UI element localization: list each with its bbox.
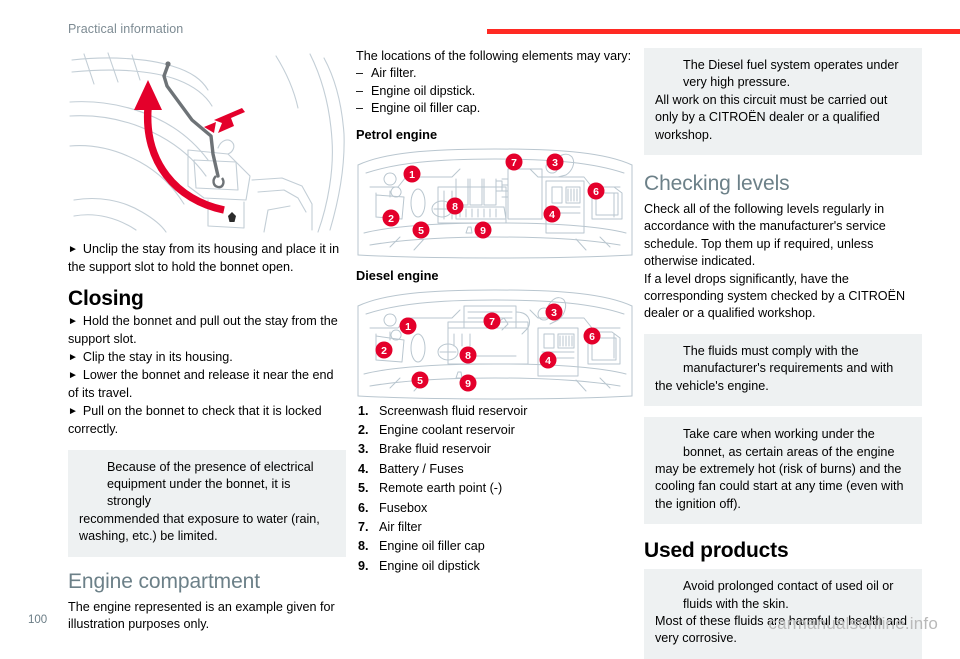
watermark: carmanualsonline.info: [768, 614, 938, 634]
svg-text:9: 9: [465, 378, 471, 390]
legend-index: 2.: [358, 421, 369, 440]
legend-index: 1.: [358, 402, 369, 421]
dash-bullet-icon: –: [356, 65, 363, 82]
warning-body-text: the vehicle's engine.: [655, 378, 911, 395]
warning-head-text: Because of the presence of electrical eq…: [79, 459, 335, 511]
warning-electrical-equipment: Because of the presence of electrical eq…: [68, 450, 346, 557]
svg-text:4: 4: [549, 209, 555, 221]
warning-body-text: may be extremely hot (risk of burns) and…: [655, 461, 911, 513]
legend-label: Engine coolant reservoir: [379, 423, 515, 437]
diesel-engine-heading: Diesel engine: [356, 267, 634, 284]
right-column: The Diesel fuel system operates under ve…: [644, 48, 922, 659]
warning-hot-engine: Take care when working under the bonnet,…: [644, 417, 922, 524]
warning-fluids-compliance: The fluids must comply with the manufact…: [644, 334, 922, 406]
svg-text:6: 6: [589, 331, 595, 343]
engine-parts-legend: 1.Screenwash fluid reservoir 2.Engine co…: [356, 402, 634, 577]
svg-text:1: 1: [405, 321, 411, 333]
warning-diesel-fuel-system: The Diesel fuel system operates under ve…: [644, 48, 922, 155]
svg-text:7: 7: [489, 316, 495, 328]
step-arrow-icon: ►: [68, 241, 78, 258]
list-item: 1.Screenwash fluid reservoir: [356, 402, 634, 421]
svg-text:7: 7: [511, 157, 517, 169]
diesel-engine-diagram: 1 2 3 4 5 6 7 8 9: [356, 288, 634, 400]
middle-column: The locations of the following elements …: [356, 48, 634, 576]
svg-text:2: 2: [388, 213, 394, 225]
warning-body-text: All work on this circuit must be carried…: [655, 92, 911, 144]
legend-label: Battery / Fuses: [379, 462, 464, 476]
legend-index: 5.: [358, 479, 369, 498]
warning-head-text: Avoid prolonged contact of used oil or f…: [655, 578, 911, 613]
step-unclip-stay: ►Unclip the stay from its housing and pl…: [68, 241, 346, 277]
checking-levels-heading: Checking levels: [644, 171, 922, 197]
step-arrow-icon: ►: [68, 367, 78, 384]
step-hold-bonnet: ►Hold the bonnet and pull out the stay f…: [68, 313, 346, 349]
legend-label: Engine oil dipstick: [379, 559, 480, 573]
step-arrow-icon: ►: [68, 349, 78, 366]
engine-compartment-text: The engine represented is an example giv…: [68, 599, 346, 634]
list-item: 9.Engine oil dipstick: [356, 557, 634, 576]
legend-index: 8.: [358, 537, 369, 556]
svg-text:5: 5: [418, 225, 424, 237]
page-number: 100: [28, 614, 47, 626]
svg-text:9: 9: [480, 225, 486, 237]
page-title: Practical information: [68, 22, 183, 36]
variable-locations-list: –Air filter. –Engine oil dipstick. –Engi…: [356, 65, 634, 117]
petrol-engine-diagram: 1 2 3 4 5 6 7 8 9: [356, 147, 634, 259]
variable-locations-intro: The locations of the following elements …: [356, 48, 634, 65]
svg-text:8: 8: [452, 201, 458, 213]
svg-text:6: 6: [593, 186, 599, 198]
legend-label: Fusebox: [379, 501, 427, 515]
legend-index: 7.: [358, 518, 369, 537]
engine-compartment-heading: Engine compartment: [68, 569, 346, 595]
list-item: 8.Engine oil filler cap: [356, 537, 634, 556]
warning-head-text: Take care when working under the bonnet,…: [655, 426, 911, 461]
legend-label: Engine oil filler cap: [379, 539, 485, 553]
warning-body-text: recommended that exposure to water (rain…: [79, 511, 335, 546]
list-item: 6.Fusebox: [356, 499, 634, 518]
legend-index: 4.: [358, 460, 369, 479]
page-header: Practical information: [0, 0, 960, 44]
list-item: –Engine oil dipstick.: [356, 83, 634, 100]
left-column: ►Unclip the stay from its housing and pl…: [68, 48, 346, 634]
list-item: 4.Battery / Fuses: [356, 460, 634, 479]
list-item: 7.Air filter: [356, 518, 634, 537]
step-pull-bonnet: ►Pull on the bonnet to check that it is …: [68, 403, 346, 439]
legend-label: Screenwash fluid reservoir: [379, 404, 527, 418]
svg-text:4: 4: [545, 355, 551, 367]
legend-label: Brake fluid reservoir: [379, 442, 491, 456]
header-red-rule: [487, 29, 960, 34]
svg-text:3: 3: [552, 157, 558, 169]
step-arrow-icon: ►: [68, 313, 78, 330]
used-products-heading: Used products: [644, 538, 922, 563]
checking-levels-paragraph-2: If a level drops significantly, have the…: [644, 271, 922, 323]
list-item: 2.Engine coolant reservoir: [356, 421, 634, 440]
list-item: 5.Remote earth point (-): [356, 479, 634, 498]
legend-label: Air filter: [379, 520, 422, 534]
legend-label: Remote earth point (-): [379, 481, 502, 495]
bonnet-stay-illustration: [68, 50, 346, 234]
svg-text:2: 2: [381, 345, 387, 357]
closing-heading: Closing: [68, 286, 346, 311]
petrol-engine-heading: Petrol engine: [356, 126, 634, 143]
legend-index: 3.: [358, 440, 369, 459]
checking-levels-paragraph-1: Check all of the following levels regula…: [644, 201, 922, 271]
svg-text:5: 5: [417, 375, 423, 387]
warning-head-text: The Diesel fuel system operates under ve…: [655, 57, 911, 92]
step-clip-stay: ►Clip the stay in its housing.: [68, 349, 346, 367]
dash-bullet-icon: –: [356, 100, 363, 117]
svg-text:1: 1: [409, 169, 415, 181]
warning-head-text: The fluids must comply with the manufact…: [655, 343, 911, 378]
dash-bullet-icon: –: [356, 83, 363, 100]
step-lower-bonnet: ►Lower the bonnet and release it near th…: [68, 367, 346, 403]
list-item: 3.Brake fluid reservoir: [356, 440, 634, 459]
list-item: –Engine oil filler cap.: [356, 100, 634, 117]
svg-text:3: 3: [551, 307, 557, 319]
step-arrow-icon: ►: [68, 403, 78, 420]
legend-index: 9.: [358, 557, 369, 576]
legend-index: 6.: [358, 499, 369, 518]
svg-text:8: 8: [465, 350, 471, 362]
list-item: –Air filter.: [356, 65, 634, 82]
